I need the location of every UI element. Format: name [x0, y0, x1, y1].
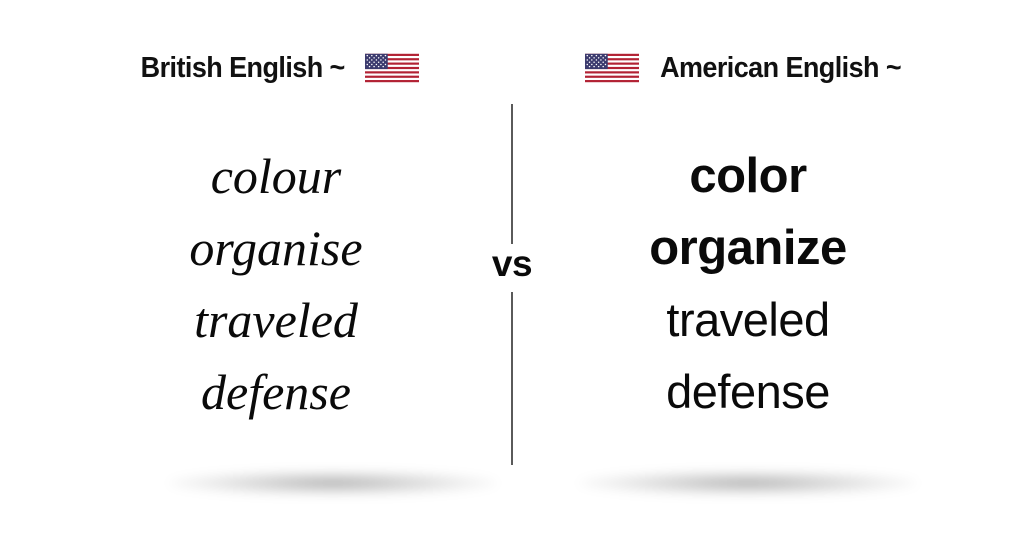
word-list-british: colour organise traveled defense: [40, 140, 512, 428]
word-item: colour: [211, 140, 342, 212]
word-item: color: [689, 140, 806, 212]
heading-american: American English ~: [512, 47, 984, 89]
divider-line-lower: [511, 292, 513, 465]
versus-label: vs: [465, 243, 559, 285]
word-item: organise: [189, 212, 362, 284]
word-item: organize: [649, 212, 846, 284]
word-item: traveled: [666, 284, 829, 356]
comparison-canvas: British English ~: [0, 0, 1024, 559]
column-british: British English ~: [40, 0, 512, 559]
divider-line-upper: [511, 104, 513, 244]
heading-label-american: American English ~: [660, 52, 901, 85]
united-states-flag-icon: [585, 51, 639, 85]
heading-label-british: British English ~: [141, 52, 345, 85]
heading-british: British English ~: [40, 47, 512, 89]
word-item: traveled: [194, 284, 358, 356]
united-states-flag-icon: [365, 51, 419, 85]
word-item: defense: [666, 356, 830, 428]
column-american: American English ~ color organize travel…: [512, 0, 984, 559]
word-item: defense: [201, 356, 351, 428]
word-list-american: color organize traveled defense: [512, 140, 984, 428]
